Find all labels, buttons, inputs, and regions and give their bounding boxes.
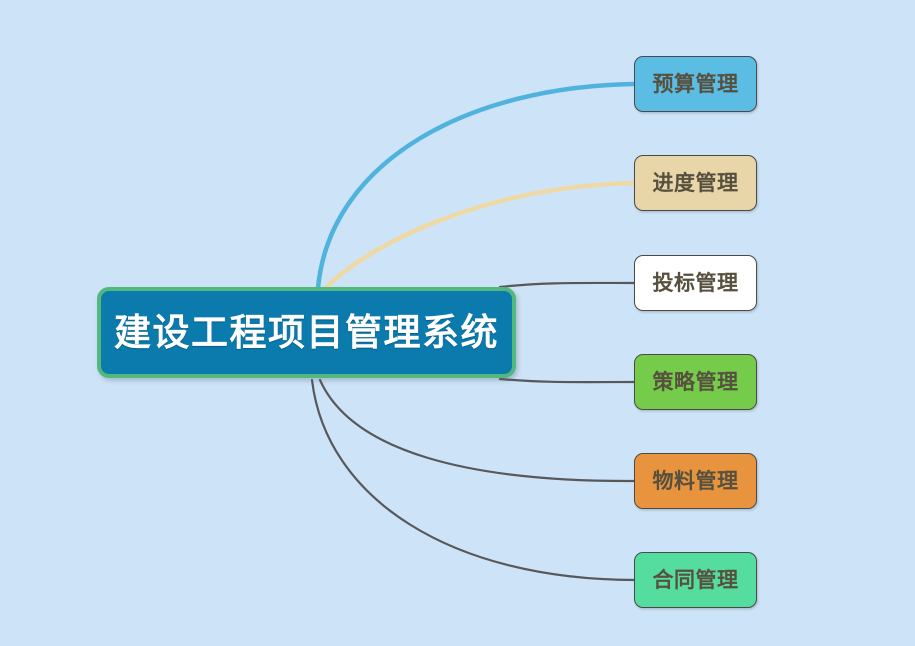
- edge-to-material: [320, 380, 636, 481]
- edge-to-budget: [318, 84, 636, 288]
- branch-node-strategy[interactable]: 策略管理: [634, 354, 757, 410]
- branch-node-budget[interactable]: 预算管理: [634, 56, 757, 112]
- branch-node-bidding[interactable]: 投标管理: [634, 255, 757, 311]
- branch-node-label: 合同管理: [653, 570, 739, 591]
- branch-node-label: 物料管理: [653, 471, 739, 492]
- edge-to-strategy: [500, 379, 636, 382]
- mindmap-canvas: 建设工程项目管理系统 预算管理 进度管理 投标管理 策略管理 物料管理 合同管理: [0, 0, 915, 646]
- branch-node-label: 进度管理: [653, 173, 739, 194]
- branch-node-label: 投标管理: [653, 273, 739, 294]
- root-node-label: 建设工程项目管理系统: [114, 314, 499, 351]
- edge-to-contract: [312, 380, 636, 580]
- branch-node-contract[interactable]: 合同管理: [634, 552, 757, 608]
- root-node[interactable]: 建设工程项目管理系统: [97, 287, 516, 378]
- branch-node-material[interactable]: 物料管理: [634, 453, 757, 509]
- edge-to-schedule: [324, 183, 636, 290]
- edge-to-bidding: [500, 283, 636, 287]
- branch-node-schedule[interactable]: 进度管理: [634, 155, 757, 211]
- branch-node-label: 预算管理: [653, 74, 739, 95]
- branch-node-label: 策略管理: [653, 372, 739, 393]
